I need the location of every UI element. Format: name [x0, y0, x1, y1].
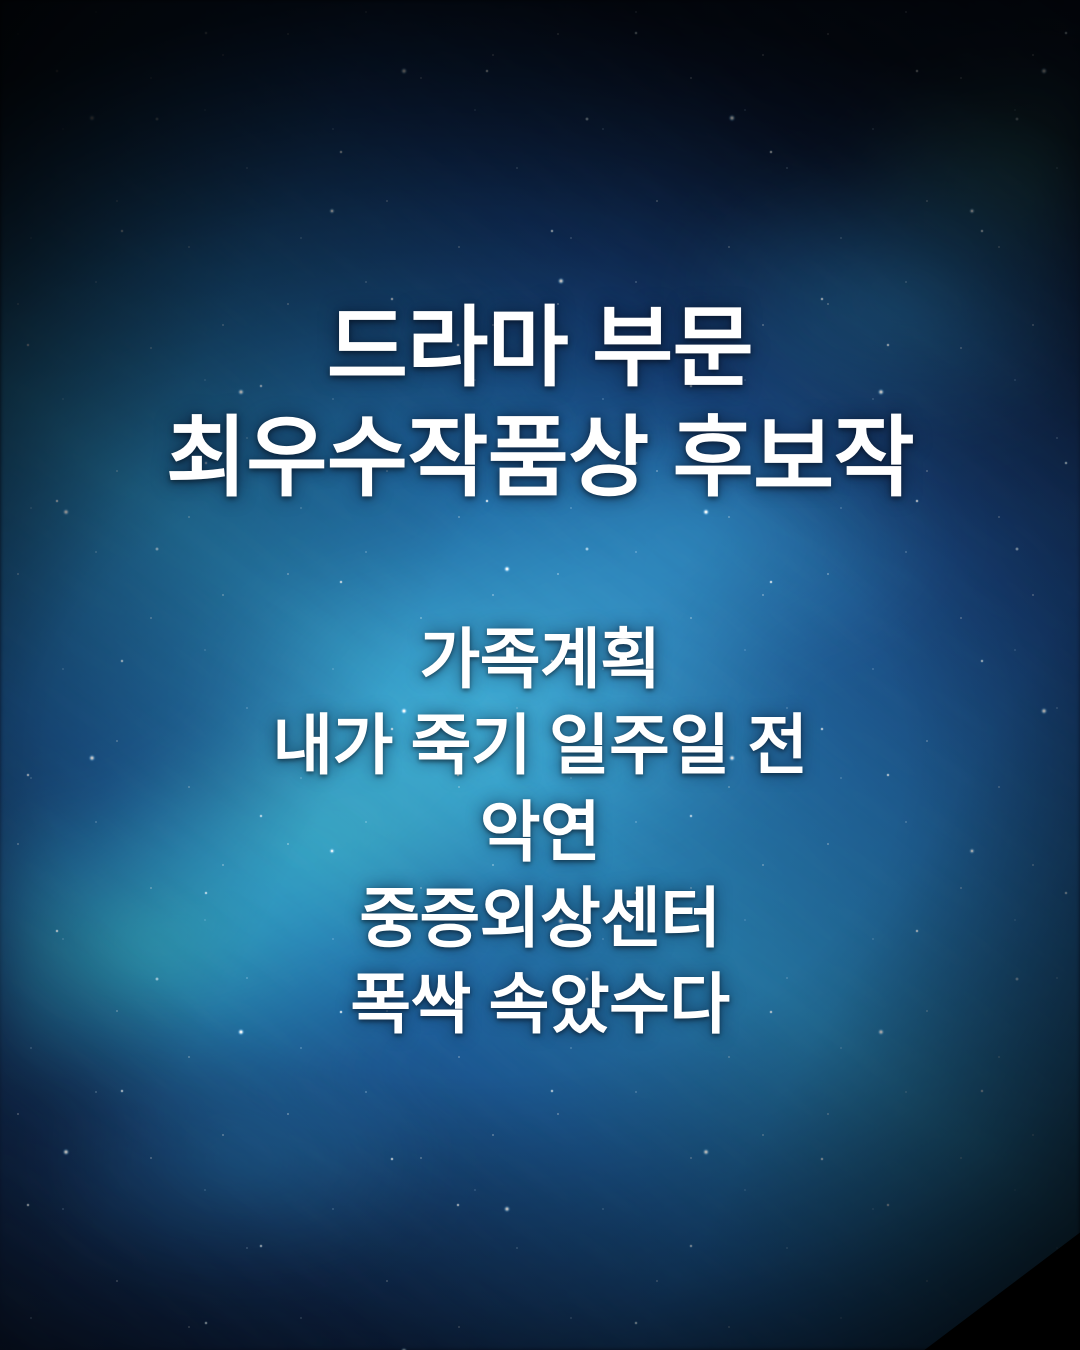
- nominee-list: 가족계획 내가 죽기 일주일 전 악연 중증외상센터 폭싹 속았수다: [0, 616, 1080, 1048]
- nominee-item: 중증외상센터: [0, 875, 1080, 961]
- award-nominee-poster: 드라마 부문 최우수작품상 후보작 가족계획 내가 죽기 일주일 전 악연 중증…: [0, 0, 1080, 1350]
- nominee-item: 가족계획: [0, 616, 1080, 702]
- nominee-item: 내가 죽기 일주일 전: [0, 702, 1080, 788]
- award-title-block: 드라마 부문 최우수작품상 후보작: [0, 296, 1080, 510]
- award-category-title-line-1: 드라마 부문: [0, 296, 1080, 400]
- poster-content: 드라마 부문 최우수작품상 후보작 가족계획 내가 죽기 일주일 전 악연 중증…: [0, 0, 1080, 1350]
- award-category-title-line-2: 최우수작품상 후보작: [0, 406, 1080, 510]
- nominee-item: 폭싹 속았수다: [0, 961, 1080, 1047]
- nominee-item: 악연: [0, 789, 1080, 875]
